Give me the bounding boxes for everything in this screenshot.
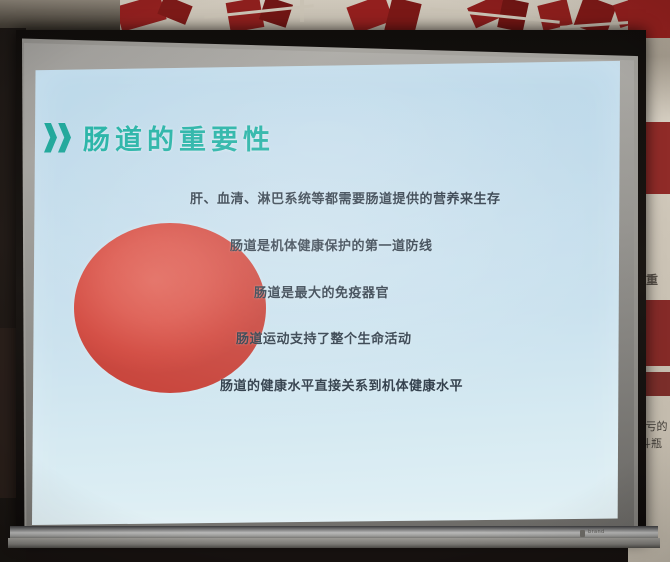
slide-bullet: 肠道运动支持了整个生命活动 (236, 328, 412, 347)
wall-banner-shape (226, 0, 265, 33)
slide-bullet: 肠道是最大的免疫器官 (254, 282, 389, 301)
chevron-right-icon (44, 123, 57, 153)
chevron-right-icon (58, 123, 71, 153)
double-chevron-right-icon (44, 123, 71, 153)
slide-title-row: 肠道的重要性 (44, 118, 275, 157)
tray-brand-label: brand (588, 529, 605, 535)
tray-brand-mark (580, 530, 585, 537)
ceiling-rail (300, 0, 304, 22)
slide-bullet: 肠道是机体健康保护的第一道防线 (230, 235, 433, 254)
slide-title: 肠道的重要性 (83, 118, 275, 157)
slide-bullet: 肝、血清、淋巴系统等都需要肠道提供的营养来生存 (190, 188, 501, 207)
room-photo: 重 用亏的斗瓶 肠道的重要性 肝、血清、淋巴系统等都需要肠道提供的营养来生存 肠… (0, 0, 670, 562)
screen-tray-rim (8, 538, 660, 548)
slide-bullet: 肠道的健康水平直接关系到机体健康水平 (220, 375, 463, 394)
slide-content: 肠道的重要性 肝、血清、淋巴系统等都需要肠道提供的营养来生存 肠道是机体健康保护… (32, 60, 620, 525)
